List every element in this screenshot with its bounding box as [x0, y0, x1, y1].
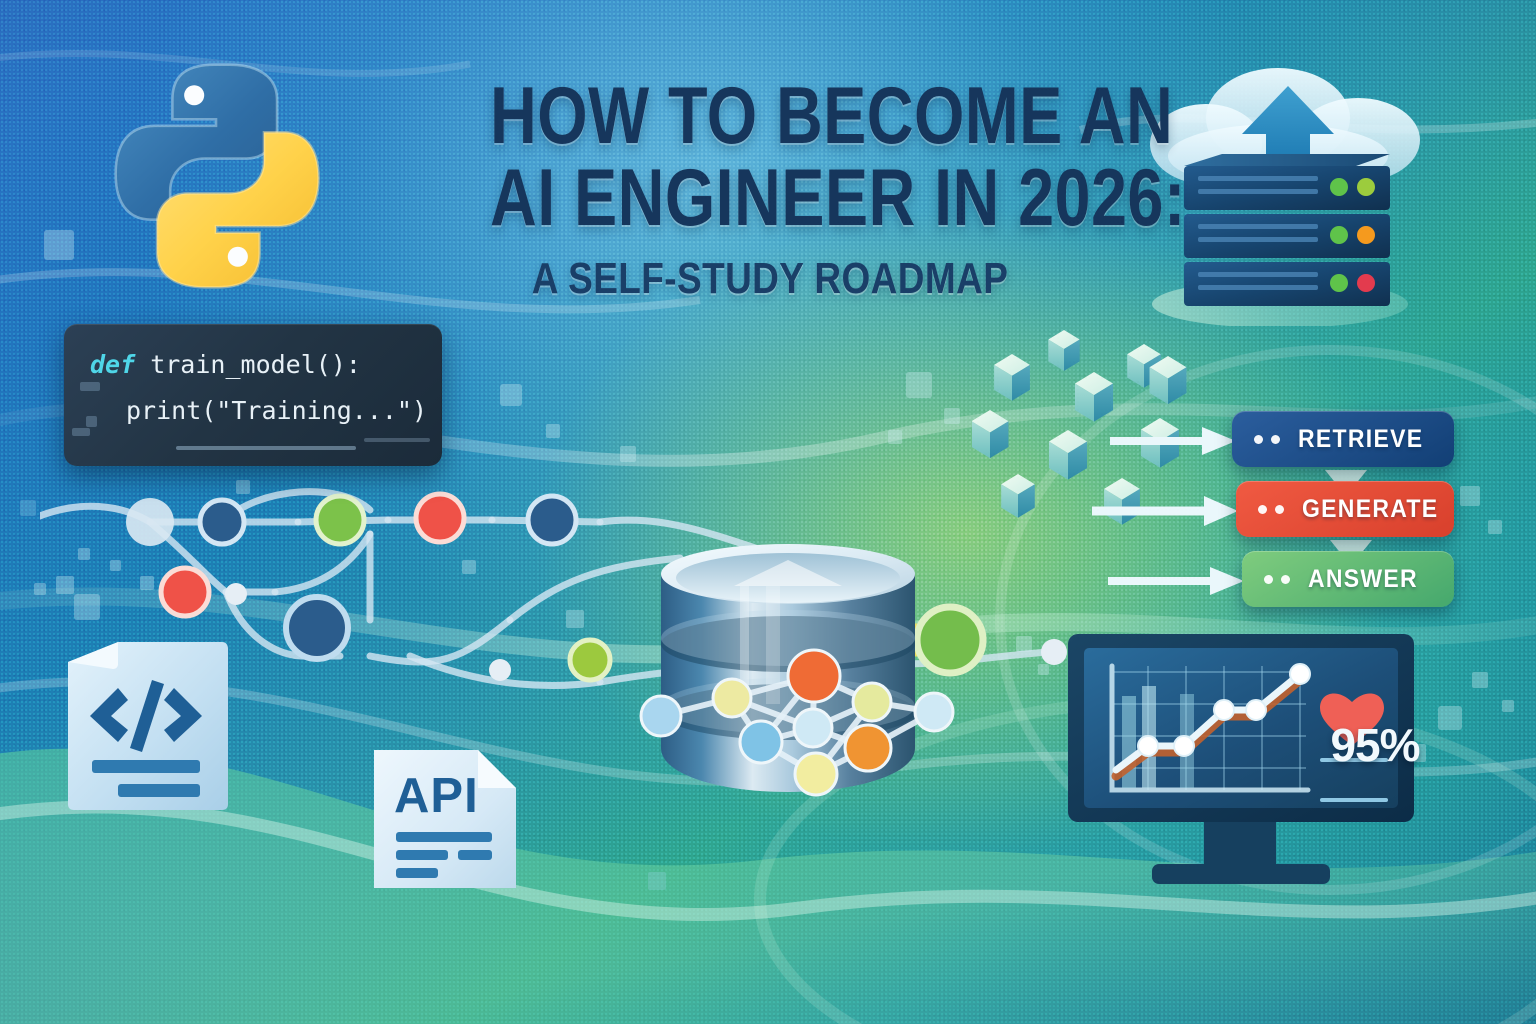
database-cylinder: [636, 516, 966, 826]
code-line-1: def train_model():: [90, 350, 361, 379]
code-line-1-rest: train_model():: [135, 350, 361, 379]
arrow-to-generate: [1092, 494, 1242, 528]
arrow-to-retrieve: [1110, 424, 1240, 458]
rag-step-label: ANSWER: [1308, 565, 1418, 594]
rag-step-retrieve[interactable]: RETRIEVE: [1232, 411, 1454, 467]
poster-canvas: RETRIEVE GENERATE ANSWER: [0, 0, 1536, 1024]
title-line-2: AI ENGINEER IN 2026:: [490, 160, 1050, 238]
arrow-to-answer: [1108, 564, 1248, 598]
python-logo: [96, 56, 336, 296]
badge-dots-icon: [1254, 435, 1280, 444]
badge-dots-icon: [1264, 575, 1290, 584]
svg-text:API: API: [394, 769, 479, 823]
rag-step-label: GENERATE: [1302, 495, 1438, 524]
metric-value: 95%: [1330, 719, 1419, 771]
poster-subtitle: A SELF-STUDY ROADMAP: [476, 254, 1064, 304]
rag-step-answer[interactable]: ANSWER: [1242, 551, 1454, 607]
code-file-icon: [56, 636, 236, 816]
code-keyword: def: [90, 350, 135, 379]
code-line-2: print("Training..."): [126, 396, 427, 425]
monitor-metric: 95%: [1320, 718, 1430, 772]
badge-dots-icon: [1258, 505, 1284, 514]
rag-step-generate[interactable]: GENERATE: [1236, 481, 1454, 537]
poster-title-block: HOW TO BECOME AN AI ENGINEER IN 2026: A …: [420, 78, 1120, 304]
code-snippet-card: def train_model(): print("Training..."): [64, 324, 442, 466]
api-file-icon: API: [366, 744, 526, 894]
title-line-1: HOW TO BECOME AN: [490, 78, 1050, 156]
rag-step-label: RETRIEVE: [1298, 425, 1423, 454]
